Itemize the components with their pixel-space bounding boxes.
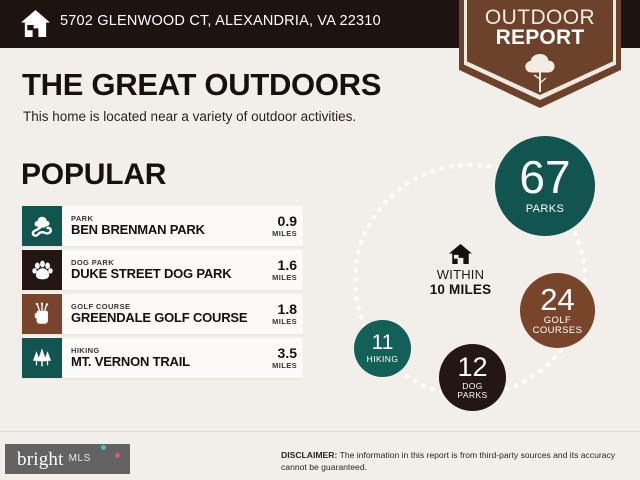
poi-icon-tile	[22, 250, 62, 290]
list-item[interactable]: GOLF COURSE GREENDALE GOLF COURSE 1.8 MI…	[22, 294, 303, 334]
pine-trees-icon	[30, 346, 54, 370]
page-subtitle: This home is located near a variety of o…	[23, 110, 356, 124]
within-distance: 10 MILES	[408, 283, 513, 297]
within-label: WITHIN	[408, 268, 513, 281]
poi-distance: 0.9 MILES	[251, 206, 303, 246]
list-item[interactable]: HIKING MT. VERNON TRAIL 3.5 MILES	[22, 338, 303, 378]
poi-text: PARK BEN BRENMAN PARK	[62, 206, 251, 246]
poi-distance-unit: MILES	[272, 361, 297, 370]
bright-mls-logo: bright MLS	[5, 444, 130, 474]
stat-circle-golf-courses[interactable]: 24 GOLF COURSES	[520, 273, 595, 348]
stat-label: PARKS	[526, 204, 564, 216]
paw-print-icon	[31, 259, 54, 282]
poi-name: DUKE STREET DOG PARK	[71, 267, 251, 282]
footer-divider	[0, 431, 640, 432]
disclaimer-label: DISCLAIMER:	[281, 450, 337, 460]
stat-label: DOG PARKS	[457, 382, 487, 400]
tree-icon	[521, 52, 559, 94]
poi-distance: 1.8 MILES	[251, 294, 303, 334]
stat-value: 12	[457, 355, 487, 381]
logo-dot-teal-icon	[101, 445, 106, 450]
badge-line1: OUTDOOR	[459, 7, 621, 28]
stat-value: 24	[540, 285, 574, 314]
park-tree-icon	[30, 214, 54, 238]
poi-name: GREENDALE GOLF COURSE	[71, 311, 251, 326]
poi-distance-unit: MILES	[272, 273, 297, 282]
stat-circle-parks[interactable]: 67 PARKS	[495, 136, 595, 236]
poi-distance-value: 1.8	[278, 302, 297, 317]
badge-line2: REPORT	[459, 27, 621, 48]
list-item[interactable]: DOG PARK DUKE STREET DOG PARK 1.6 MILES	[22, 250, 303, 290]
poi-icon-tile	[22, 206, 62, 246]
poi-distance-value: 0.9	[278, 214, 297, 229]
poi-distance-unit: MILES	[272, 317, 297, 326]
poi-distance: 3.5 MILES	[251, 338, 303, 378]
stat-circle-dog-parks[interactable]: 12 DOG PARKS	[439, 344, 506, 411]
stat-label: GOLF COURSES	[533, 316, 583, 336]
poi-text: HIKING MT. VERNON TRAIL	[62, 338, 251, 378]
stat-value: 67	[519, 156, 570, 200]
poi-icon-tile	[22, 294, 62, 334]
poi-name: MT. VERNON TRAIL	[71, 355, 251, 370]
stat-label: HIKING	[367, 355, 399, 364]
logo-subtext: MLS	[64, 454, 91, 464]
poi-text: GOLF COURSE GREENDALE GOLF COURSE	[62, 294, 251, 334]
stat-value: 11	[372, 333, 394, 353]
logo-dot-pink-icon	[115, 453, 120, 458]
popular-list: PARK BEN BRENMAN PARK 0.9 MILES	[22, 206, 303, 382]
golf-bag-icon	[30, 302, 54, 326]
poi-distance-value: 1.6	[278, 258, 297, 273]
poi-distance-value: 3.5	[278, 346, 297, 361]
logo-wordmark: bright	[5, 450, 64, 469]
poi-distance-unit: MILES	[272, 229, 297, 238]
disclaimer: DISCLAIMER: The information in this repo…	[281, 450, 631, 473]
popular-section-title: POPULAR	[21, 160, 166, 190]
home-icon	[20, 9, 51, 38]
list-item[interactable]: PARK BEN BRENMAN PARK 0.9 MILES	[22, 206, 303, 246]
poi-icon-tile	[22, 338, 62, 378]
poi-text: DOG PARK DUKE STREET DOG PARK	[62, 250, 251, 290]
page-title: THE GREAT OUTDOORS	[22, 69, 381, 100]
header-address: 5702 GLENWOOD CT, ALEXANDRIA, VA 22310	[60, 13, 381, 29]
poi-distance: 1.6 MILES	[251, 250, 303, 290]
stat-circle-hiking[interactable]: 11 HIKING	[354, 320, 411, 377]
outdoor-report-page: 5702 GLENWOOD CT, ALEXANDRIA, VA 22310 O…	[0, 0, 640, 480]
home-icon	[448, 243, 473, 265]
poi-name: BEN BRENMAN PARK	[71, 223, 251, 238]
